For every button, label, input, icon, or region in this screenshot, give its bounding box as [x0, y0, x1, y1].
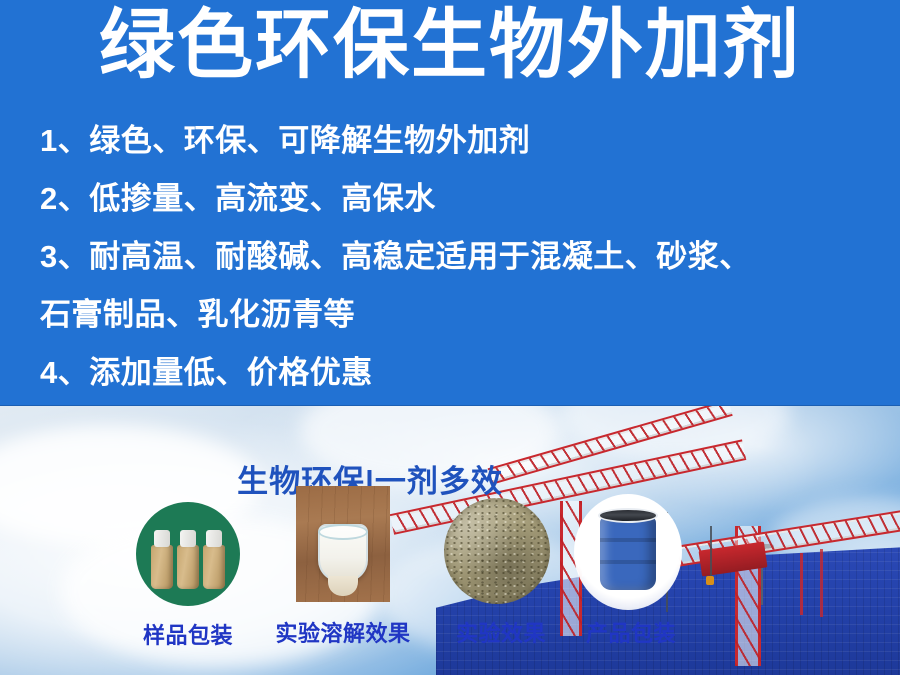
blue-plastic-drum — [600, 516, 656, 590]
tile-caption: 实验效果 — [456, 616, 546, 648]
feature-item-1: 1、绿色、环保、可降解生物外加剂 — [40, 112, 880, 170]
feature-list: 1、绿色、环保、可降解生物外加剂 2、低掺量、高流变、高保水 3、耐高温、耐酸碱… — [40, 112, 880, 402]
mortar-sample-circle-image — [444, 498, 550, 604]
bottle-cap — [180, 530, 196, 547]
tile-caption: 产品包装 — [586, 616, 676, 648]
bottle-cap — [206, 530, 222, 547]
page-title: 绿色环保生物外加剂 — [0, 8, 900, 84]
drum-ring — [600, 538, 656, 542]
drum-lid — [598, 508, 658, 523]
product-tile-test-result[interactable]: 实验效果 — [436, 498, 566, 653]
product-poster: 绿色环保生物外加剂 1、绿色、环保、可降解生物外加剂 2、低掺量、高流变、高保水… — [0, 0, 900, 675]
tile-caption: 样品包装 — [143, 618, 233, 650]
product-tile-dissolution-test[interactable]: 实验溶解效果 — [268, 486, 418, 656]
photo-panel: 生物环保|一剂多效 样品包装 — [0, 406, 900, 675]
beaker-rim — [318, 524, 368, 540]
bottle-cap — [154, 530, 170, 547]
beaker-with-solution — [318, 524, 368, 582]
product-tiles: 生物环保|一剂多效 样品包装 — [0, 406, 900, 675]
feature-item-2: 2、低掺量、高流变、高保水 — [40, 170, 880, 228]
drum-ring — [600, 560, 656, 564]
headline-panel: 绿色环保生物外加剂 1、绿色、环保、可降解生物外加剂 2、低掺量、高流变、高保水… — [0, 0, 900, 406]
feature-item-3-continued: 石膏制品、乳化沥青等 — [40, 286, 880, 344]
mortar-texture — [444, 498, 550, 604]
sample-bottle — [177, 545, 199, 589]
tile-caption: 实验溶解效果 — [275, 616, 410, 648]
product-drum-circle-image — [574, 494, 682, 610]
sample-bottles-circle-image — [136, 502, 240, 606]
sample-bottle — [151, 545, 173, 589]
feature-item-4: 4、添加量低、价格优惠 — [40, 344, 880, 402]
dissolution-photo — [296, 486, 390, 602]
feature-item-3: 3、耐高温、耐酸碱、高稳定适用于混凝土、砂浆、 — [40, 228, 880, 286]
product-tile-sample-packaging[interactable]: 样品包装 — [128, 502, 248, 652]
product-tile-product-packaging[interactable]: 产品包装 — [566, 494, 696, 654]
beaker-foot — [328, 576, 358, 596]
sample-bottle — [203, 545, 225, 589]
